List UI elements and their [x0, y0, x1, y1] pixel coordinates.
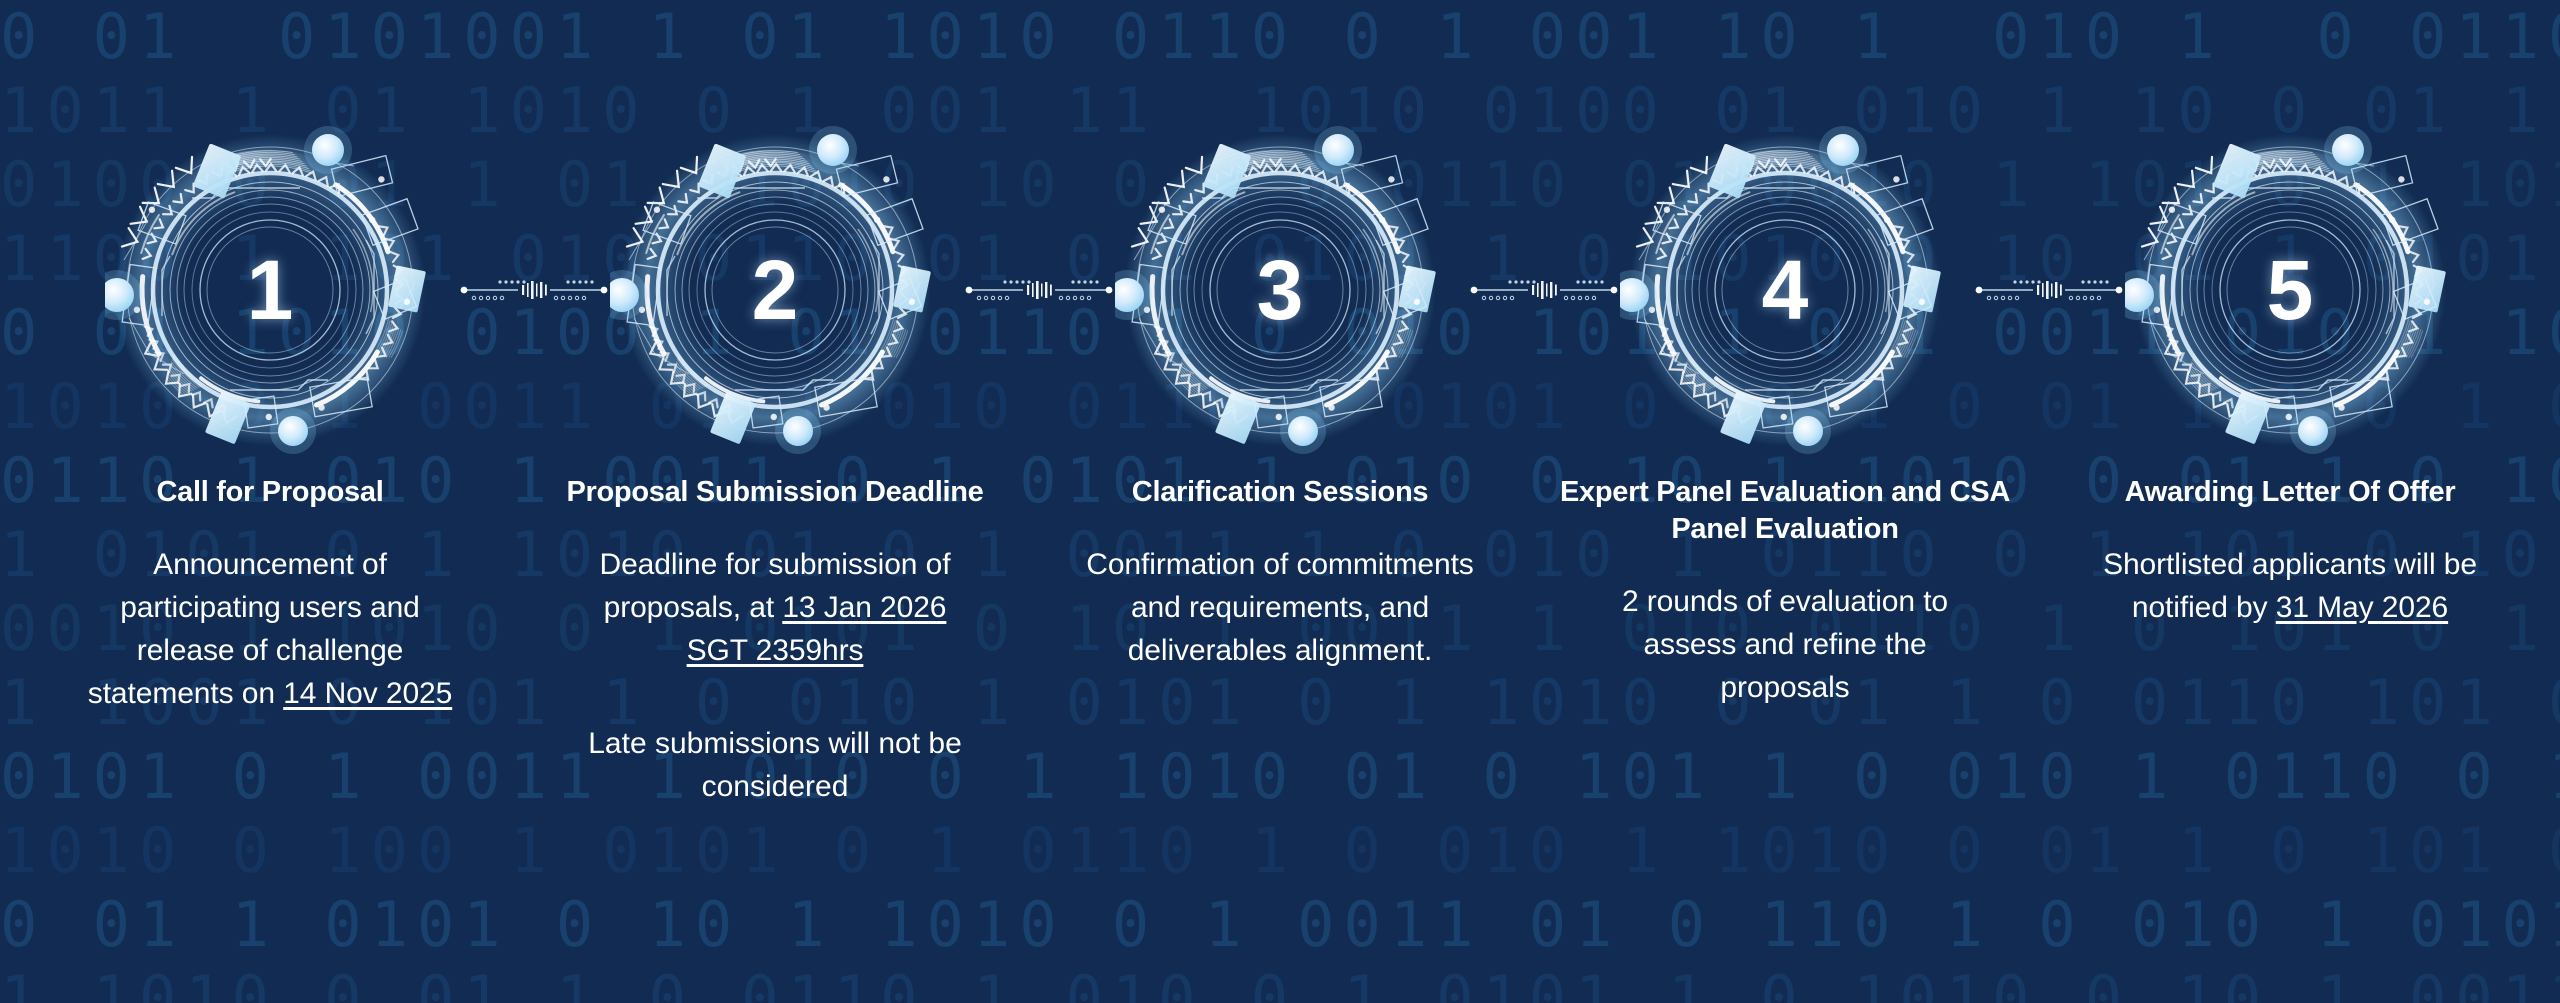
step-number: 5	[2125, 125, 2455, 455]
timeline-step-5[interactable]: 5Awarding Letter Of OfferShortlisted app…	[2044, 0, 2536, 630]
timeline-step-2[interactable]: 2Proposal Submission DeadlineDeadline fo…	[529, 0, 1021, 809]
highlighted-date: SGT 2359hrs	[687, 634, 864, 667]
step-description: Deadline for submission of proposals, at…	[578, 544, 973, 673]
step-badge-3[interactable]: 3	[1115, 125, 1445, 455]
step-description: 2 rounds of evaluation to assess and ref…	[1588, 581, 1983, 710]
highlighted-date: 14 Nov 2025	[283, 677, 452, 710]
step-title: Clarification Sessions	[1070, 474, 1490, 511]
step-description: Shortlisted applicants will be notified …	[2093, 544, 2488, 630]
step-badge-4[interactable]: 4	[1620, 125, 1950, 455]
highlighted-date: 31 May 2026	[2276, 591, 2448, 624]
step-title: Awarding Letter Of Offer	[2080, 474, 2500, 511]
step-number: 2	[610, 125, 940, 455]
process-timeline: 1Call for ProposalAnnouncement of partic…	[0, 0, 2560, 1003]
step-badge-1[interactable]: 1	[105, 125, 435, 455]
step-number: 3	[1115, 125, 1445, 455]
step-description: Confirmation of commitments and requirem…	[1083, 544, 1478, 673]
step-number: 1	[105, 125, 435, 455]
step-badge-2[interactable]: 2	[610, 125, 940, 455]
timeline-canvas: 0 01 0101001 1 01 1010 0110 0 1 001 10 1…	[0, 0, 2560, 1003]
timeline-step-1[interactable]: 1Call for ProposalAnnouncement of partic…	[24, 0, 516, 716]
step-description: Announcement of participating users and …	[73, 544, 468, 716]
body-text: 2 rounds of evaluation to assess and ref…	[1622, 585, 1948, 704]
step-badge-5[interactable]: 5	[2125, 125, 2455, 455]
timeline-step-3[interactable]: 3Clarification SessionsConfirmation of c…	[1034, 0, 1526, 673]
timeline-step-4[interactable]: 4Expert Panel Evaluation and CSA Panel E…	[1539, 0, 2031, 710]
step-number: 4	[1620, 125, 1950, 455]
step-title: Proposal Submission Deadline	[565, 474, 985, 511]
step-title: Call for Proposal	[60, 474, 480, 511]
step-title: Expert Panel Evaluation and CSA Panel Ev…	[1550, 474, 2020, 548]
body-text: Confirmation of commitments and requirem…	[1086, 548, 1473, 667]
highlighted-date: 13 Jan 2026	[782, 591, 946, 624]
step-note: Late submissions will not be considered	[578, 723, 973, 809]
